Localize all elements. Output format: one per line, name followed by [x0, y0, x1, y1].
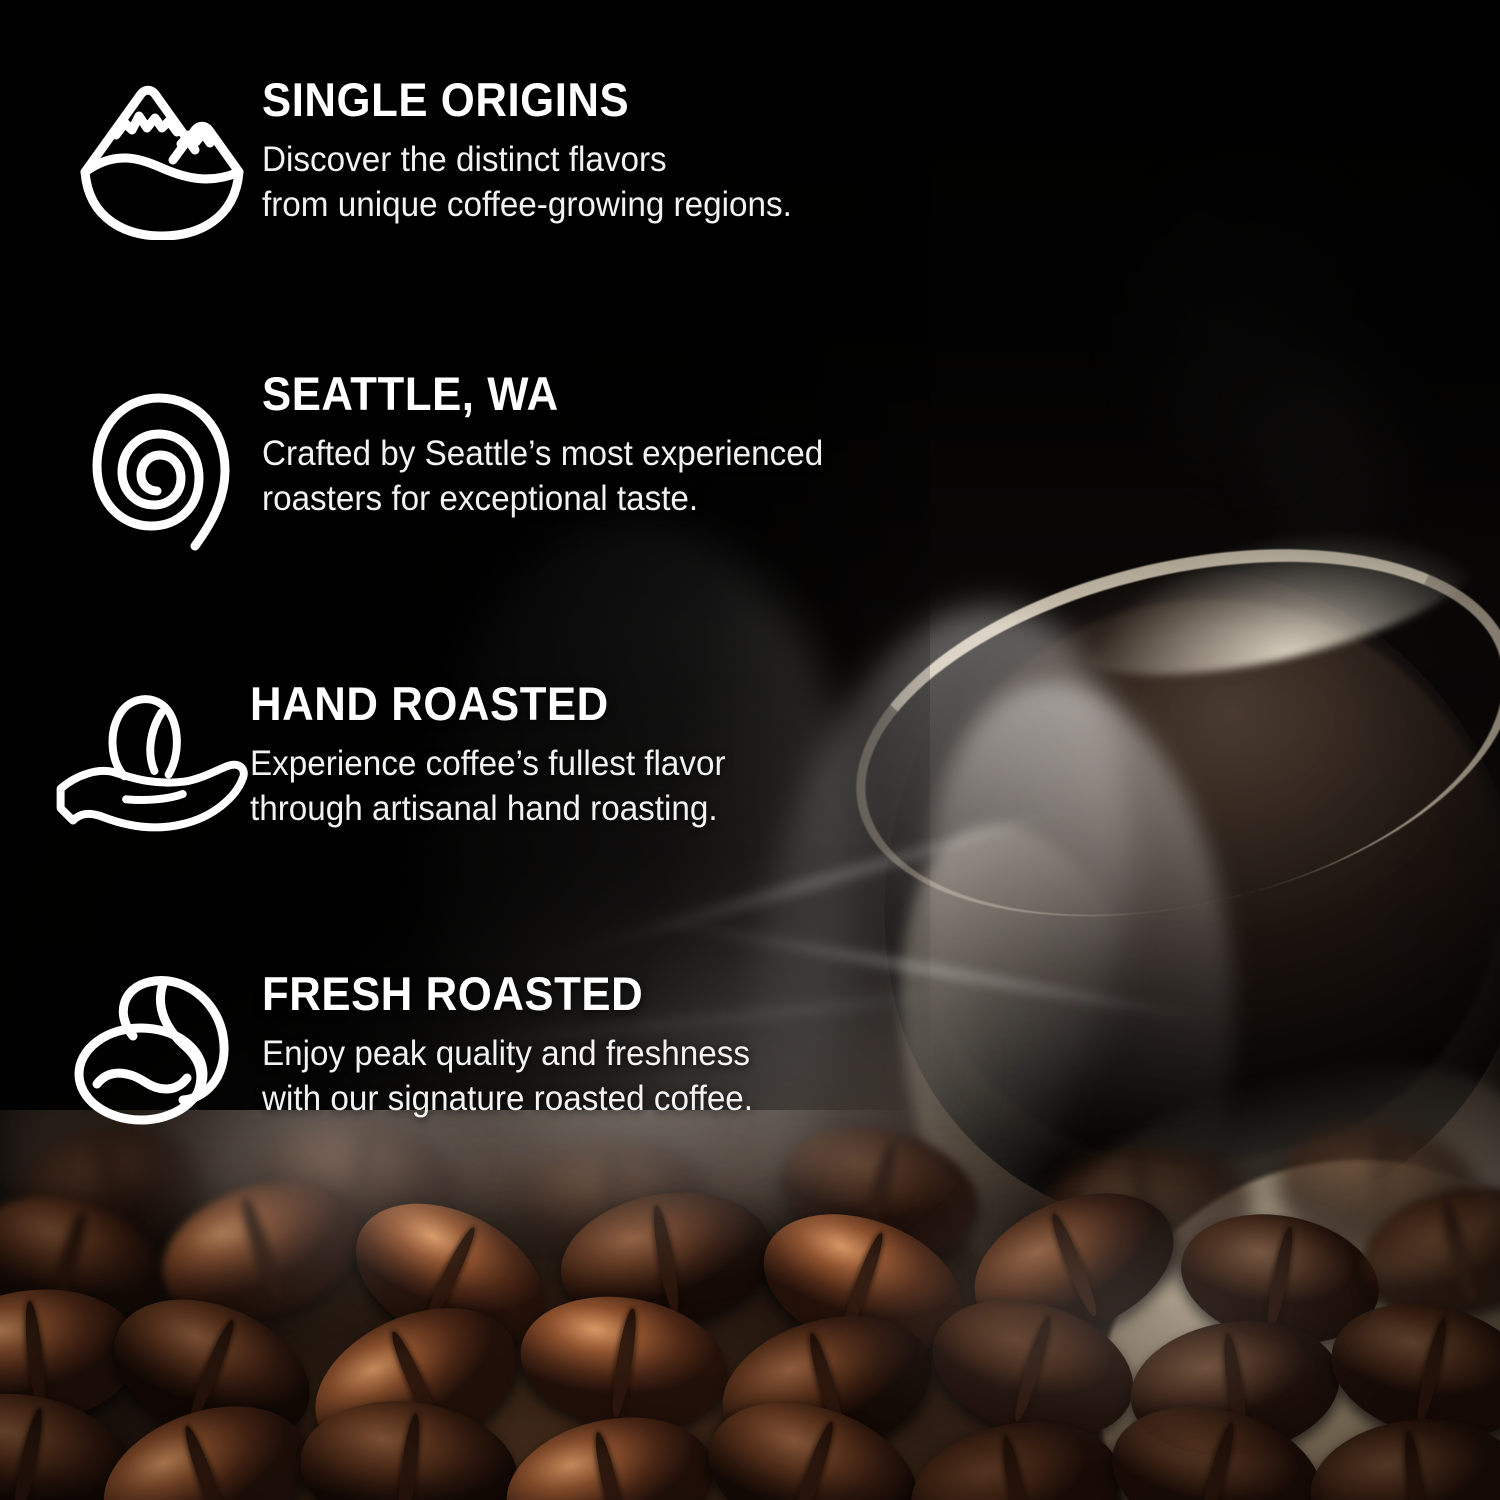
- feature-description: Enjoy peak quality and freshness with ou…: [262, 1031, 753, 1122]
- feature-description-line: roasters for exceptional taste.: [262, 476, 823, 522]
- two-coffee-beans-icon: [62, 968, 262, 1130]
- feature-text: SINGLE ORIGINS Discover the distinct fla…: [262, 74, 820, 228]
- feature-description-line: through artisanal hand roasting.: [250, 786, 726, 832]
- feature-item-hand-roasted: HAND ROASTED Experience coffee’s fullest…: [50, 678, 751, 842]
- feature-description-line: Crafted by Seattle’s most experienced: [262, 431, 823, 477]
- feature-item-seattle-wa: SEATTLE, WA Crafted by Seattle’s most ex…: [62, 368, 853, 558]
- feature-description-line: Experience coffee’s fullest flavor: [250, 741, 726, 787]
- feature-description: Discover the distinct flavors from uniqu…: [262, 137, 792, 228]
- feature-description: Crafted by Seattle’s most experienced ro…: [262, 431, 823, 522]
- feature-title: SINGLE ORIGINS: [262, 76, 781, 125]
- feature-description-line: with our signature roasted coffee.: [262, 1076, 753, 1122]
- feature-text: SEATTLE, WA Crafted by Seattle’s most ex…: [262, 368, 853, 522]
- feature-description-line: from unique coffee-growing regions.: [262, 182, 792, 228]
- feature-description-line: Discover the distinct flavors: [262, 137, 792, 183]
- fingerprint-icon: [62, 368, 262, 558]
- feature-title: HAND ROASTED: [250, 680, 716, 729]
- feature-title: FRESH ROASTED: [262, 970, 743, 1019]
- feature-description: Experience coffee’s fullest flavor throu…: [250, 741, 726, 832]
- hand-holding-bean-icon: [50, 678, 250, 842]
- feature-description-line: Enjoy peak quality and freshness: [262, 1031, 753, 1077]
- coffee-feature-graphic: SINGLE ORIGINS Discover the distinct fla…: [0, 0, 1500, 1500]
- feature-text: FRESH ROASTED Enjoy peak quality and fre…: [262, 968, 779, 1122]
- mountain-bean-icon: [62, 74, 262, 240]
- feature-title: SEATTLE, WA: [262, 370, 811, 419]
- feature-item-single-origins: SINGLE ORIGINS Discover the distinct fla…: [62, 74, 820, 240]
- feature-text: HAND ROASTED Experience coffee’s fullest…: [250, 678, 751, 832]
- feature-item-fresh-roasted: FRESH ROASTED Enjoy peak quality and fre…: [62, 968, 779, 1130]
